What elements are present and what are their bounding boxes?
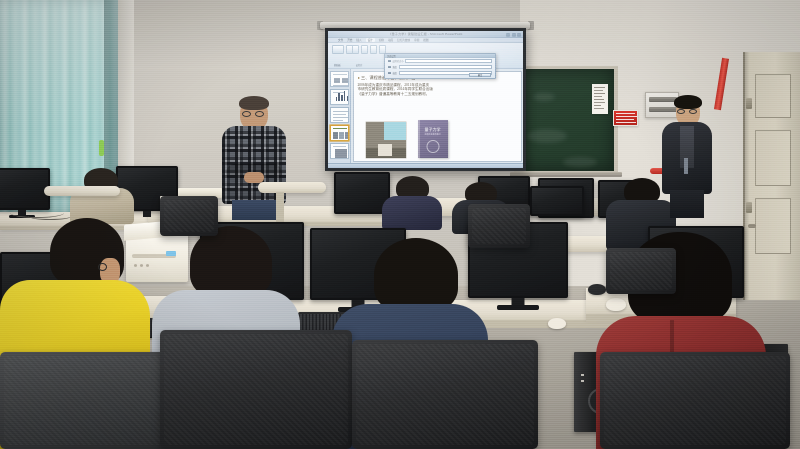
red-safety-sign [613, 110, 638, 126]
tab-home[interactable]: 开始 [347, 38, 352, 42]
ribbon-group-label-clipboard: 剪贴板 [334, 63, 341, 67]
wall-notice-paper [592, 84, 608, 114]
dialog-ok-button[interactable]: 确定 [469, 73, 491, 77]
close-icon[interactable] [517, 33, 521, 37]
podium-table-top [258, 182, 326, 193]
page-setup-dialog[interactable]: 页面设置 幻灯片大小 宽度 [384, 53, 496, 79]
powerpoint-workspace: 三、课程普遍平富，编所产出 2006年成为重庆市精品课程，2011年成为重庆 市… [328, 69, 523, 163]
slide-textbook-cover: 量子力学 普通高等教育教材 [418, 120, 448, 158]
textbook-subtitle: 普通高等教育教材 [418, 133, 448, 136]
door-handle[interactable] [748, 224, 756, 228]
tab-transitions[interactable]: 切换 [379, 38, 384, 42]
slide-thumbnail-4[interactable] [330, 125, 349, 141]
paste-icon[interactable] [332, 45, 344, 54]
tab-slideshow[interactable]: 幻灯片放映 [397, 38, 410, 42]
dialog-value-width[interactable] [399, 65, 492, 68]
powerpoint-status-bar [328, 163, 523, 168]
thumbnail-bar-chart-icon [336, 91, 349, 101]
slide-thumbnail-3[interactable] [330, 107, 349, 123]
slide-thumbnail-1[interactable] [330, 71, 349, 87]
slide-body-line-3: 《量子力学》普通高等教育十二五规划教材。 [358, 92, 517, 97]
ribbon-group-clipboard[interactable] [332, 45, 353, 54]
tab-review[interactable]: 审阅 [414, 38, 419, 42]
checkbox-icon[interactable] [388, 60, 391, 63]
powerpoint-window[interactable]: 《量子力学》课程建设汇报 - Microsoft PowerPoint 文件 开… [328, 31, 523, 168]
dialog-label-width: 宽度 [393, 65, 397, 69]
radio-icon-2[interactable] [388, 72, 391, 75]
round-table-left [44, 186, 120, 196]
window-control-buttons[interactable] [506, 33, 521, 37]
dialog-title: 页面设置 [387, 54, 396, 58]
chair-right-row[interactable] [606, 248, 676, 294]
chair-back-left[interactable] [160, 196, 218, 236]
new-slide-icon[interactable] [352, 45, 359, 54]
slide-classroom-photo [366, 122, 406, 158]
font-bold-icon[interactable] [370, 45, 377, 54]
slide-thumbnail-2[interactable] [330, 89, 349, 105]
green-chalkboard [514, 66, 618, 174]
podium-table-leg [276, 192, 284, 224]
slide-figure-row: 量子力学 普通高等教育教材 [366, 120, 511, 158]
chair-front-center-left[interactable] [160, 330, 352, 449]
window-daylight-glow [0, 0, 120, 130]
tab-insert[interactable]: 插入 [356, 38, 361, 42]
ribbon-group-label-slides: 幻灯片 [356, 63, 363, 67]
dialog-label-height: 高度 [393, 71, 397, 75]
maximize-icon[interactable] [512, 33, 516, 37]
chair-back-center[interactable] [468, 204, 530, 248]
powerpoint-title-text: 《量子力学》课程建设汇报 - Microsoft PowerPoint [388, 32, 462, 36]
observer-lanyard [684, 158, 688, 174]
mouse-front-3[interactable] [548, 318, 566, 329]
tab-view[interactable]: 视图 [423, 38, 428, 42]
projection-screen: 《量子力学》课程建设汇报 - Microsoft PowerPoint 文件 开… [325, 28, 526, 171]
observer-glasses-icon [676, 108, 700, 115]
observer-trousers [670, 190, 704, 218]
tab-design[interactable]: 设计 [366, 38, 375, 42]
powerpoint-title-bar: 《量子力学》课程建设汇报 - Microsoft PowerPoint [328, 31, 523, 38]
slide-editing-canvas[interactable]: 三、课程普遍平富，编所产出 2006年成为重庆市精品课程，2011年成为重庆 市… [353, 71, 522, 162]
layout-icon[interactable] [361, 45, 368, 54]
chair-front-right[interactable] [600, 352, 790, 449]
presenter-glasses-icon [240, 110, 268, 118]
chair-front-center[interactable] [352, 340, 538, 449]
dialog-value-slide-size[interactable] [405, 59, 492, 62]
classroom-photo-scene: 《量子力学》课程建设汇报 - Microsoft PowerPoint 文件 开… [0, 0, 800, 449]
slide-thumbnail-5[interactable] [330, 143, 349, 159]
window-latch [99, 140, 104, 156]
yellow-student-glasses-icon [96, 262, 120, 272]
dialog-label-slide-size: 幻灯片大小 [393, 59, 404, 63]
monitor-right-wall [530, 186, 584, 216]
slide-thumbnail-panel[interactable] [328, 69, 351, 163]
presenter-trousers [232, 200, 276, 220]
textbook-ring-graphic [426, 140, 439, 153]
tab-animations[interactable]: 动画 [388, 38, 393, 42]
minimize-icon[interactable] [506, 33, 510, 37]
bullet-arrow-icon [358, 77, 360, 79]
ribbon-toolbar[interactable]: 剪贴板 幻灯片 页面设置 幻灯片大小 [328, 43, 523, 69]
chair-front-left[interactable] [0, 352, 178, 449]
ribbon-group-slides[interactable] [352, 45, 368, 54]
tab-file[interactable]: 文件 [338, 38, 343, 42]
monitor-back-1 [0, 168, 50, 210]
person-navy-back [382, 176, 442, 228]
person-observer-standing [662, 96, 712, 218]
radio-icon[interactable] [388, 66, 391, 69]
